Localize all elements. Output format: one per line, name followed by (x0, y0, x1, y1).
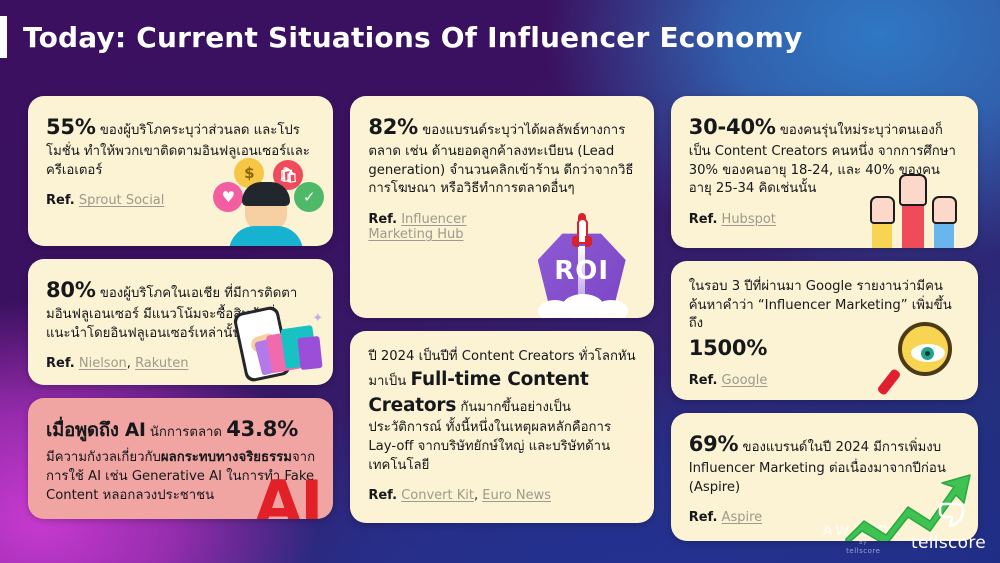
card-1500-stat: 1500% (689, 336, 960, 360)
ref-link-nielson[interactable]: Nielson (79, 356, 127, 371)
card-55-stat: 55% (46, 115, 96, 139)
column-right: 30-40% ของคนรุ่นใหม่ระบุว่าตนเองก็เป็น C… (671, 96, 978, 541)
card-ai-lead: เมื่อพูดถึง AI (46, 420, 146, 441)
cloud-shape (538, 294, 628, 318)
card-ai-text-2: มีความกังวลเกี่ยวกับผลกระทบทางจริยธรรมจา… (46, 449, 315, 505)
ref-link-hubspot[interactable]: Hubspot (722, 212, 776, 227)
rocket-trail (578, 246, 585, 298)
card-80-stat: 80% (46, 278, 96, 302)
card-ai-body-1: มีความกังวลเกี่ยวกับ (46, 450, 161, 465)
card-80-percent[interactable]: 80% ของผู้บริโภคในเอเชีย ที่มีการติดตามอ… (28, 259, 333, 385)
ref-link-influencer[interactable]: Influencer (401, 212, 466, 227)
column-mid: 82% ของแบรนด์ระบุว่าได้ผลลัพธ์ทางการตลาด… (350, 96, 653, 541)
ref-label: Ref. (689, 373, 718, 388)
card-82-stat: 82% (368, 115, 418, 139)
ref-label: Ref. (368, 488, 397, 503)
ref-separator: , (474, 488, 478, 503)
ref-label: Ref. (689, 212, 718, 227)
ref-label: Ref. (46, 356, 75, 371)
ref-label: Ref. (689, 510, 718, 525)
card-55-percent[interactable]: 55% ของผู้บริโภคระบุว่าส่วนลด และโปรโมชั… (28, 96, 333, 246)
card-55-reference: Ref. Sprout Social (46, 193, 315, 208)
ref-link-google[interactable]: Google (722, 373, 768, 388)
card-2024-reference: Ref. Convert Kit, Euro News (368, 488, 635, 503)
card-1500-reference: Ref. Google (689, 373, 960, 388)
ref-label: Ref. (46, 193, 75, 208)
cards-board: 55% ของผู้บริโภคระบุว่าส่วนลด และโปรโมชั… (28, 96, 978, 541)
person-body (229, 226, 303, 246)
card-80-text: 80% ของผู้บริโภคในเอเชีย ที่มีการติดตามอ… (46, 276, 315, 343)
card-ai-mid: นักการตลาด (146, 425, 226, 440)
card-ai-ethics[interactable]: เมื่อพูดถึง AI นักการตลาด 43.8% มีความกั… (28, 398, 333, 519)
card-ai-stat: 43.8% (226, 417, 298, 441)
ref-separator: , (127, 356, 131, 371)
card-ai-body-bold: ผลกระทบทางจริยธรรม (161, 450, 292, 465)
awards-brand: tellscore (823, 547, 904, 555)
card-ai-text: เมื่อพูดถึง AI นักการตลาด 43.8% (46, 415, 315, 445)
ref-link-convert-kit[interactable]: Convert Kit (401, 488, 474, 503)
card-69-text: 69% ของแบรนด์ในปี 2024 มีการเพิ่มงบ Infl… (689, 430, 960, 497)
card-3040-stat: 30-40% (689, 115, 776, 139)
card-69-stat: 69% (689, 432, 739, 456)
ref-link-aspire[interactable]: Aspire (722, 510, 763, 525)
awards-watermark: AWARDS by tellscore (823, 524, 904, 555)
ref-label: Ref. (368, 212, 397, 227)
roi-hexagon (538, 232, 626, 312)
ref-link-euro-news[interactable]: Euro News (482, 488, 551, 503)
card-1500-text: ในรอบ 3 ปีที่ผ่านมา Google รายงานว่ามีคน… (689, 278, 960, 334)
tellscore-wordmark: tellscore (911, 533, 986, 553)
card-2024-text: ปี 2024 เป็นปีที่ Content Creators ทั่วโ… (368, 348, 635, 475)
card-82-percent[interactable]: 82% ของแบรนด์ระบุว่าได้ผลลัพธ์ทางการตลาด… (350, 96, 653, 318)
card-82-text: 82% ของแบรนด์ระบุว่าได้ผลลัพธ์ทางการตลาด… (368, 113, 635, 199)
slide-canvas: Today: Current Situations Of Influencer … (0, 0, 1000, 563)
card-1500-percent[interactable]: ในรอบ 3 ปีที่ผ่านมา Google รายงานว่ามีคน… (671, 261, 978, 400)
column-left: 55% ของผู้บริโภคระบุว่าส่วนลด และโปรโมชั… (28, 96, 333, 541)
tellscore-mark-icon (937, 502, 965, 528)
roi-label: ROI (538, 256, 626, 286)
card-3040-reference: Ref. Hubspot (689, 212, 960, 227)
card-55-text: 55% ของผู้บริโภคระบุว่าส่วนลด และโปรโมชั… (46, 113, 315, 180)
awards-by: by (823, 540, 904, 546)
card-30-40-percent[interactable]: 30-40% ของคนรุ่นใหม่ระบุว่าตนเองก็เป็น C… (671, 96, 978, 248)
card-3040-text: 30-40% ของคนรุ่นใหม่ระบุว่าตนเองก็เป็น C… (689, 113, 960, 199)
tellscore-logo: tellscore (911, 502, 986, 553)
page-title: Today: Current Situations Of Influencer … (23, 21, 802, 54)
card-80-reference: Ref. Nielson, Rakuten (46, 356, 315, 371)
card-2024-fulltime-creators[interactable]: ปี 2024 เป็นปีที่ Content Creators ทั่วโ… (350, 331, 653, 523)
slide-header: Today: Current Situations Of Influencer … (0, 14, 1000, 60)
ref-link-marketing-hub[interactable]: Marketing Hub (368, 227, 463, 242)
title-accent-bar (0, 16, 7, 58)
ref-link-rakuten[interactable]: Rakuten (135, 356, 188, 371)
ref-link-sprout-social[interactable]: Sprout Social (79, 193, 165, 208)
awards-word: AWARDS (823, 524, 904, 539)
card-82-reference: Ref. Influencer Marketing Hub (368, 212, 635, 242)
